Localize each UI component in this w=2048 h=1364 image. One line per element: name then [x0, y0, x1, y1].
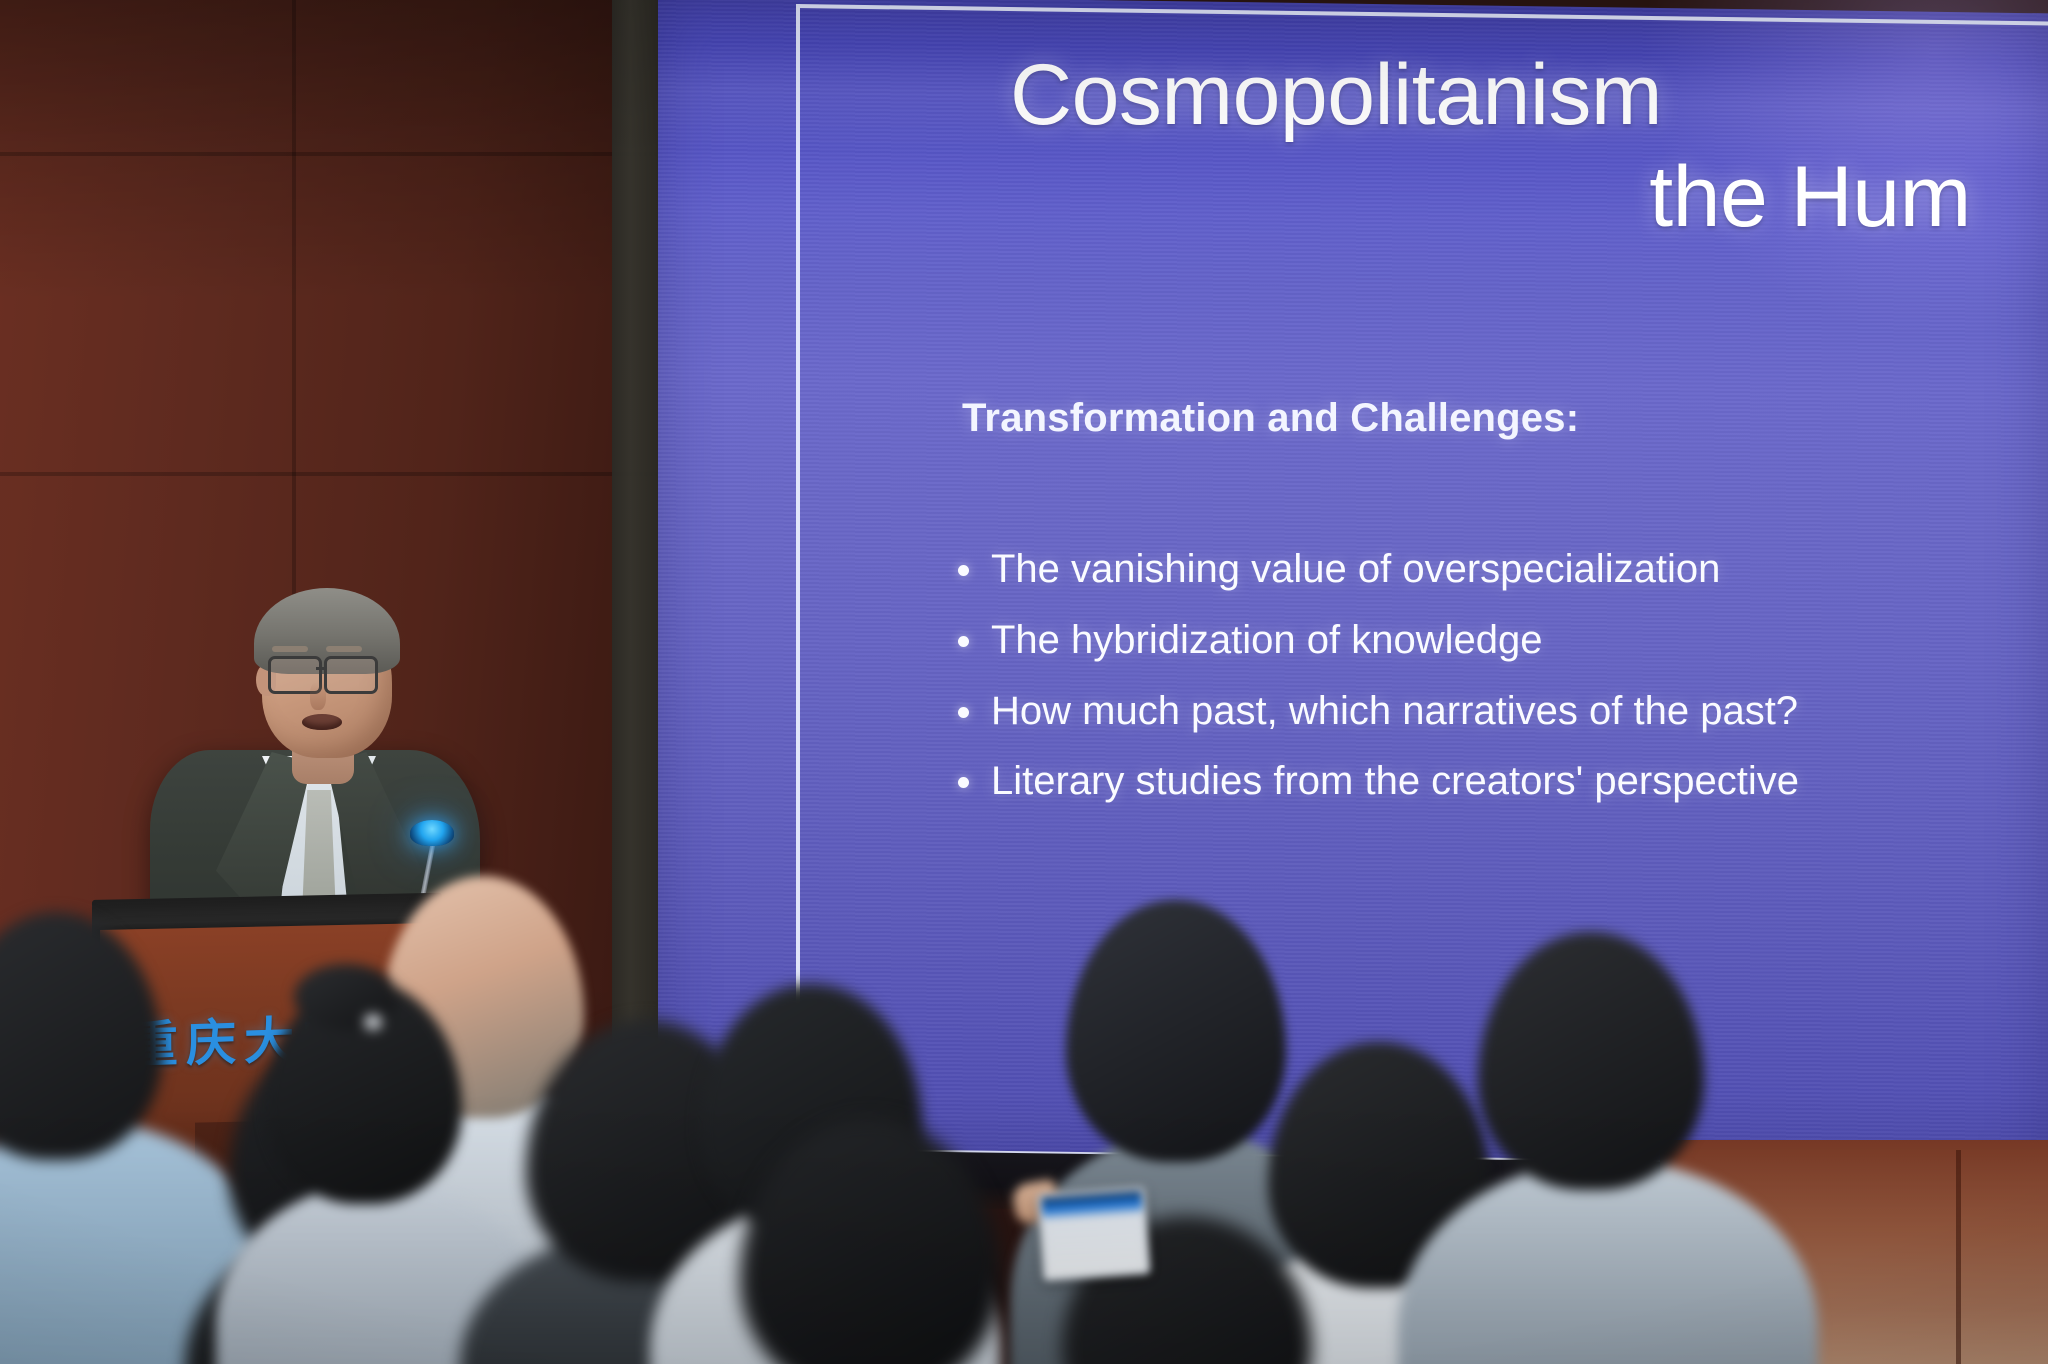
wall-seam-3	[0, 472, 660, 476]
slide-title-line-1: Cosmopolitanism	[1010, 47, 1662, 143]
podium-university-logo: 重庆大学	[128, 998, 361, 1077]
glasses-bridge	[316, 667, 326, 670]
slide-title: Cosmopolitanism the Hum	[1010, 52, 2048, 241]
audience-shoulders	[1192, 1238, 1612, 1364]
speaker-mouth	[302, 714, 342, 730]
wall-right-lower	[1660, 1140, 2048, 1364]
slide-bullet-text: The vanishing value of overspecializatio…	[991, 545, 2018, 594]
lecture-hall-photo: Cosmopolitanism the Hum Transformation a…	[0, 0, 2048, 1364]
audience-shoulders	[650, 1200, 1000, 1364]
bullet-dot-icon	[958, 777, 969, 788]
slide-bullet-text: The hybridization of knowledge	[991, 616, 2018, 665]
slide-bullet-item: The hybridization of knowledge	[958, 616, 2018, 665]
wall-dark-column	[612, 0, 658, 1364]
speaker-eyebrow-right	[326, 646, 362, 652]
bullet-dot-icon	[958, 636, 969, 647]
speaker-eyebrow-left	[272, 646, 308, 652]
slide-bullet-text: How much past, which narratives of the p…	[991, 687, 2018, 736]
slide-bullet-item: How much past, which narratives of the p…	[958, 687, 2018, 736]
slide-subheading: Transformation and Challenges:	[962, 396, 1579, 441]
bullet-dot-icon	[958, 565, 969, 576]
lens-right	[324, 656, 378, 694]
eyeglasses-icon	[266, 656, 390, 690]
audience-head	[1062, 1216, 1312, 1364]
microphone-capsule-icon	[410, 820, 454, 846]
slide-title-line-2: the Hum	[1010, 154, 2048, 242]
wall-seam-2	[0, 152, 660, 156]
bullet-dot-icon	[958, 707, 969, 718]
slide-bullet-list: The vanishing value of overspecializatio…	[958, 545, 2018, 828]
speaker-nose	[310, 682, 326, 710]
podium-base	[195, 1117, 445, 1282]
slide-bullet-item: The vanishing value of overspecializatio…	[958, 545, 2018, 594]
audience-member-10	[1042, 1216, 1342, 1364]
slide-bullet-text: Literary studies from the creators' pers…	[991, 757, 2018, 806]
slide-bullet-item: Literary studies from the creators' pers…	[958, 757, 2018, 806]
wall-right-seam	[1956, 1150, 1961, 1364]
